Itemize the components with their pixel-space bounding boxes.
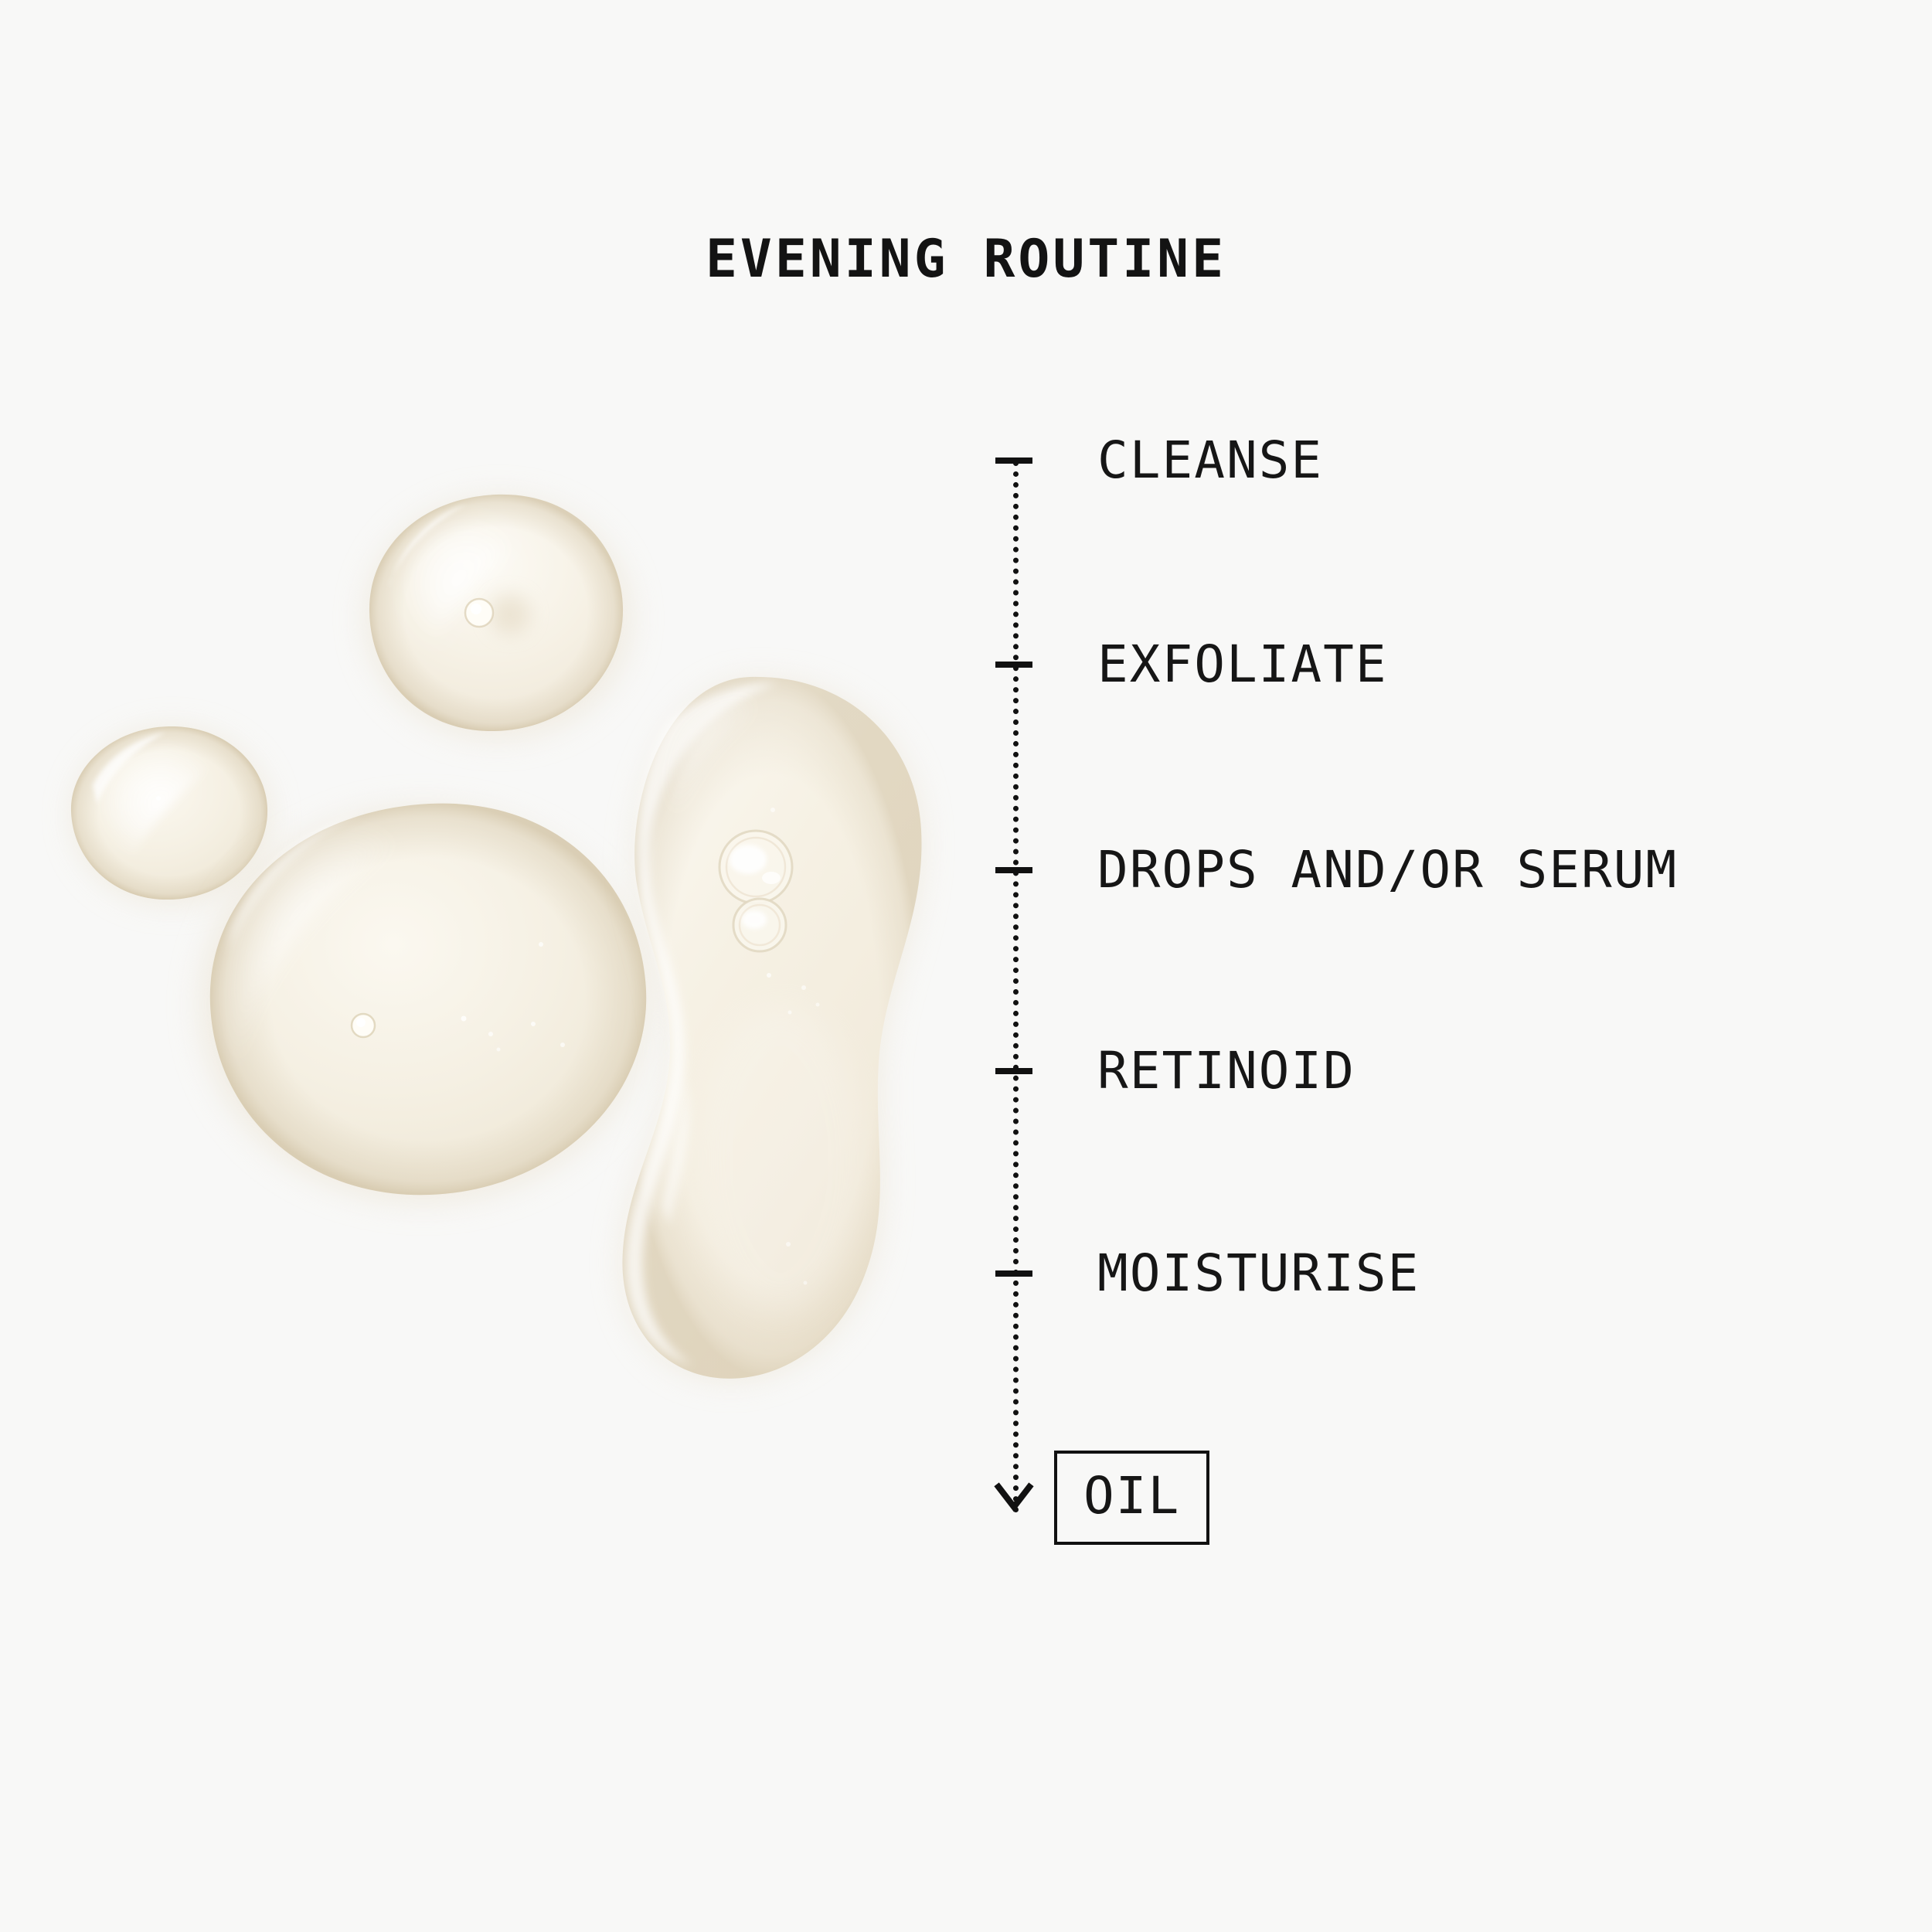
timeline-dotted-line — [1013, 461, 1019, 1513]
timeline-step-label: RETINOID — [1097, 1046, 1355, 1097]
bubble-blob-lower — [733, 899, 786, 951]
bubble-medium-droplet — [465, 599, 493, 627]
tick-mark-icon — [995, 457, 1032, 464]
routine-timeline: CLEANSE EXFOLIATE DROPS AND/OR SERUM RET… — [1005, 433, 1893, 1530]
blob-large-droplet-bottom — [199, 804, 648, 1202]
arrow-down-icon — [994, 1481, 1034, 1515]
blob-medium-droplet-top — [366, 495, 631, 739]
tick-mark-icon — [995, 662, 1032, 668]
tick-mark-icon — [995, 867, 1032, 873]
timeline-step-label: CLEANSE — [1097, 435, 1323, 486]
poster-canvas: EVENING ROUTINE — [0, 0, 1932, 1932]
blob-elongated-serum — [622, 677, 921, 1380]
timeline-step-label: MOISTURISE — [1097, 1248, 1420, 1299]
tick-mark-icon — [995, 1270, 1032, 1277]
timeline-step-label-boxed: OIL — [1054, 1451, 1209, 1545]
bubble-blob-upper — [719, 831, 792, 903]
bubble-large-droplet — [352, 1014, 375, 1037]
blob-small-droplet-left — [71, 726, 269, 903]
tick-mark-icon — [995, 1068, 1032, 1074]
timeline-step-label: EXFOLIATE — [1097, 639, 1388, 690]
timeline-step-label: DROPS AND/OR SERUM — [1097, 845, 1678, 896]
